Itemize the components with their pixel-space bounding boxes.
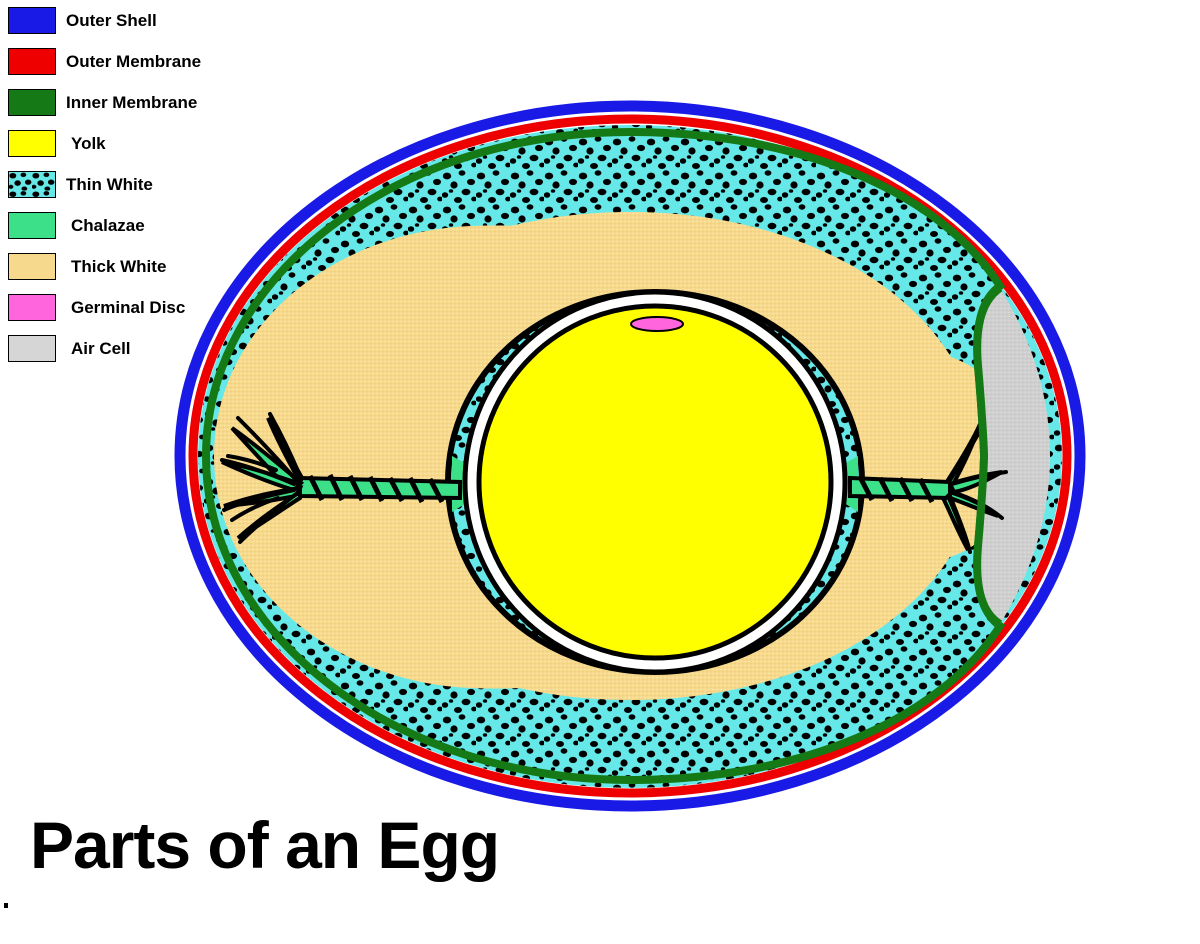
egg-cross-section-diagram: [0, 0, 1200, 944]
germinal-disc: [631, 317, 683, 331]
page-title: Parts of an Egg: [30, 812, 499, 878]
yolk: [479, 306, 831, 658]
egg-diagram-page: Outer ShellOuter MembraneInner MembraneY…: [0, 0, 1200, 944]
scan-speck: [4, 903, 8, 908]
